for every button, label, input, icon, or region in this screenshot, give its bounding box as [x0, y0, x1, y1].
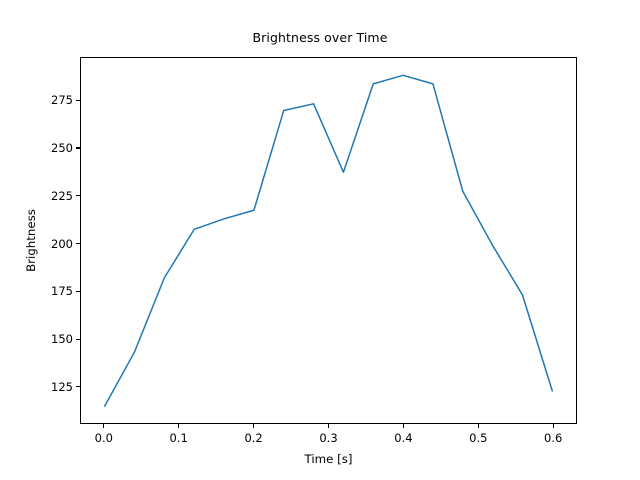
x-tick-mark	[253, 424, 254, 428]
x-tick-mark	[103, 424, 104, 428]
x-tick-label: 0.2	[244, 431, 262, 445]
x-tick-label: 0.3	[319, 431, 337, 445]
y-tick-mark	[76, 147, 80, 148]
y-tick-mark	[76, 386, 80, 387]
y-tick-label: 275	[51, 93, 73, 107]
x-tick-mark	[328, 424, 329, 428]
x-tick-label: 0.6	[544, 431, 562, 445]
x-tick-mark	[403, 424, 404, 428]
x-tick-mark	[178, 424, 179, 428]
y-tick-label: 225	[51, 189, 73, 203]
y-axis-label: Brightness	[24, 57, 38, 424]
brightness-data-line	[105, 75, 553, 406]
x-tick-label: 0.1	[170, 431, 188, 445]
y-tick-mark	[76, 243, 80, 244]
y-tick-label: 200	[51, 237, 73, 251]
y-tick-label: 250	[51, 141, 73, 155]
x-tick-label: 0.5	[469, 431, 487, 445]
y-tick-label: 125	[51, 380, 73, 394]
line-chart-svg	[81, 58, 576, 423]
y-tick-mark	[76, 291, 80, 292]
y-tick-label: 150	[51, 332, 73, 346]
x-tick-mark	[553, 424, 554, 428]
matplotlib-figure: Brightness over Time 0.00.10.20.30.40.50…	[0, 0, 640, 480]
y-tick-mark	[76, 100, 80, 101]
y-tick-mark	[76, 195, 80, 196]
chart-title: Brightness over Time	[0, 30, 640, 45]
x-tick-label: 0.4	[394, 431, 412, 445]
y-tick-label: 175	[51, 284, 73, 298]
x-tick-mark	[478, 424, 479, 428]
y-tick-mark	[76, 339, 80, 340]
plot-axes-area	[80, 57, 577, 424]
x-tick-label: 0.0	[95, 431, 113, 445]
x-axis-label: Time [s]	[80, 452, 577, 466]
